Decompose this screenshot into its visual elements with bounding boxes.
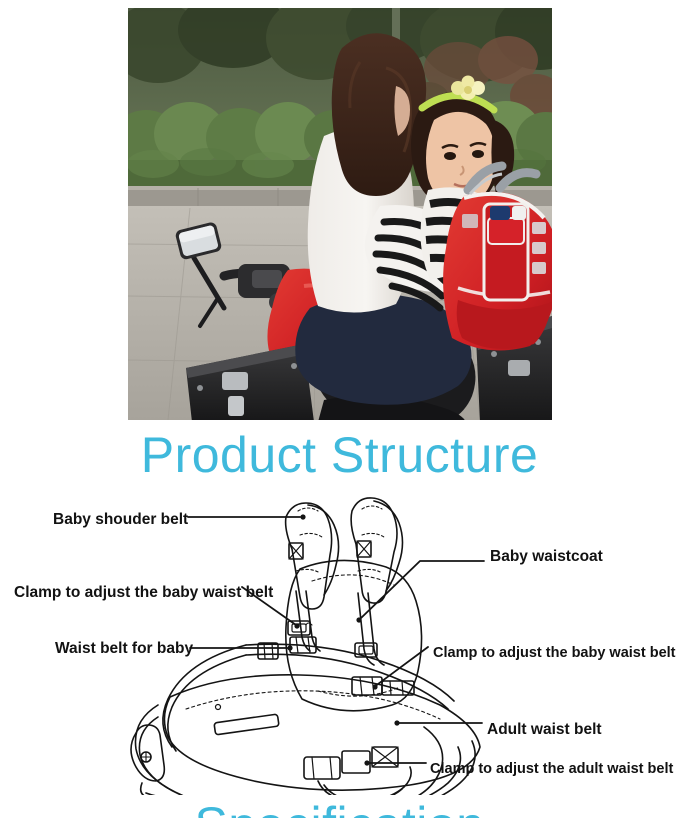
- next-section-title: Specification: [0, 800, 679, 818]
- callout-baby-shoulder-belt: Baby shouder belt: [53, 512, 188, 528]
- callout-baby-waistcoat: Baby waistcoat: [490, 549, 603, 565]
- callout-clamp-adult-waist-belt: Clamp to adjust the adult waist belt: [430, 762, 673, 777]
- callout-waist-belt-for-baby: Waist belt for baby: [55, 641, 193, 657]
- product-photo: [128, 8, 552, 420]
- callout-clamp-baby-waist-right: Clamp to adjust the baby waist belt: [433, 646, 676, 661]
- callout-clamp-baby-waist-left: Clamp to adjust the baby waist belt: [14, 585, 273, 601]
- product-structure-page: Product Structure: [0, 0, 679, 818]
- page-title: Product Structure: [0, 430, 679, 480]
- callout-adult-waist-belt: Adult waist belt: [487, 722, 602, 738]
- adult-skirt: [295, 294, 471, 405]
- product-photo-scene: [128, 8, 552, 420]
